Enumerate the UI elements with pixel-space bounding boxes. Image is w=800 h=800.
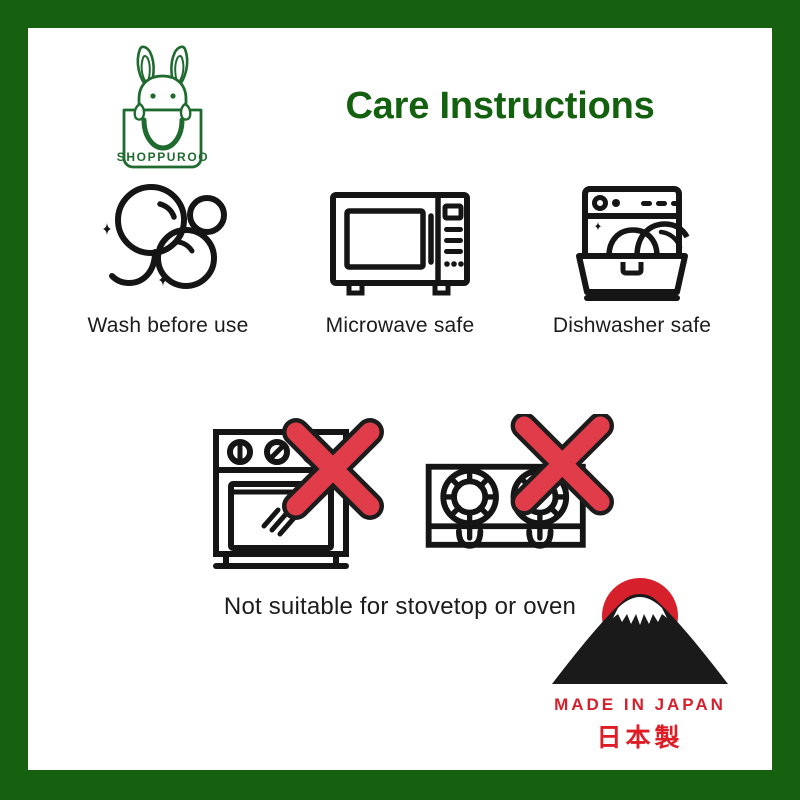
- oven-icon: [193, 414, 393, 579]
- care-item-dishwasher: Dishwasher safe: [516, 176, 748, 338]
- gas-stovetop-icon: [415, 414, 615, 579]
- care-instructions-infographic: SHOPPUROO Care Instructions: [0, 0, 800, 800]
- care-item-microwave: Microwave safe: [284, 176, 516, 338]
- brand-logo: SHOPPUROO: [106, 36, 222, 176]
- care-item-label: Wash before use: [88, 314, 249, 338]
- care-item-label: Dishwasher safe: [553, 314, 711, 338]
- header: SHOPPUROO Care Instructions: [28, 28, 772, 148]
- microwave-icon: [320, 176, 480, 306]
- content-card: SHOPPUROO Care Instructions: [28, 28, 772, 770]
- brand-name-text: SHOPPUROO: [117, 150, 209, 164]
- kangaroo-shopping-bag-logo-icon: SHOPPUROO: [106, 36, 222, 176]
- soap-bubbles-icon: [88, 176, 248, 306]
- mount-fuji-icon: [540, 576, 740, 688]
- made-in-japan-badge: MADE IN JAPAN 日本製: [540, 576, 740, 744]
- prohibited-label: Not suitable for stovetop or oven: [224, 593, 576, 621]
- made-in-japan-text: MADE IN JAPAN: [540, 695, 740, 715]
- page-title: Care Instructions: [260, 85, 740, 128]
- made-in-japan-kanji: 日本製: [540, 718, 740, 754]
- prohibited-icons: [185, 414, 615, 579]
- care-item-label: Microwave safe: [326, 314, 475, 338]
- allowed-care-row: Wash before use: [28, 176, 772, 338]
- care-item-wash: Wash before use: [52, 176, 284, 338]
- dishwasher-icon: [552, 176, 712, 306]
